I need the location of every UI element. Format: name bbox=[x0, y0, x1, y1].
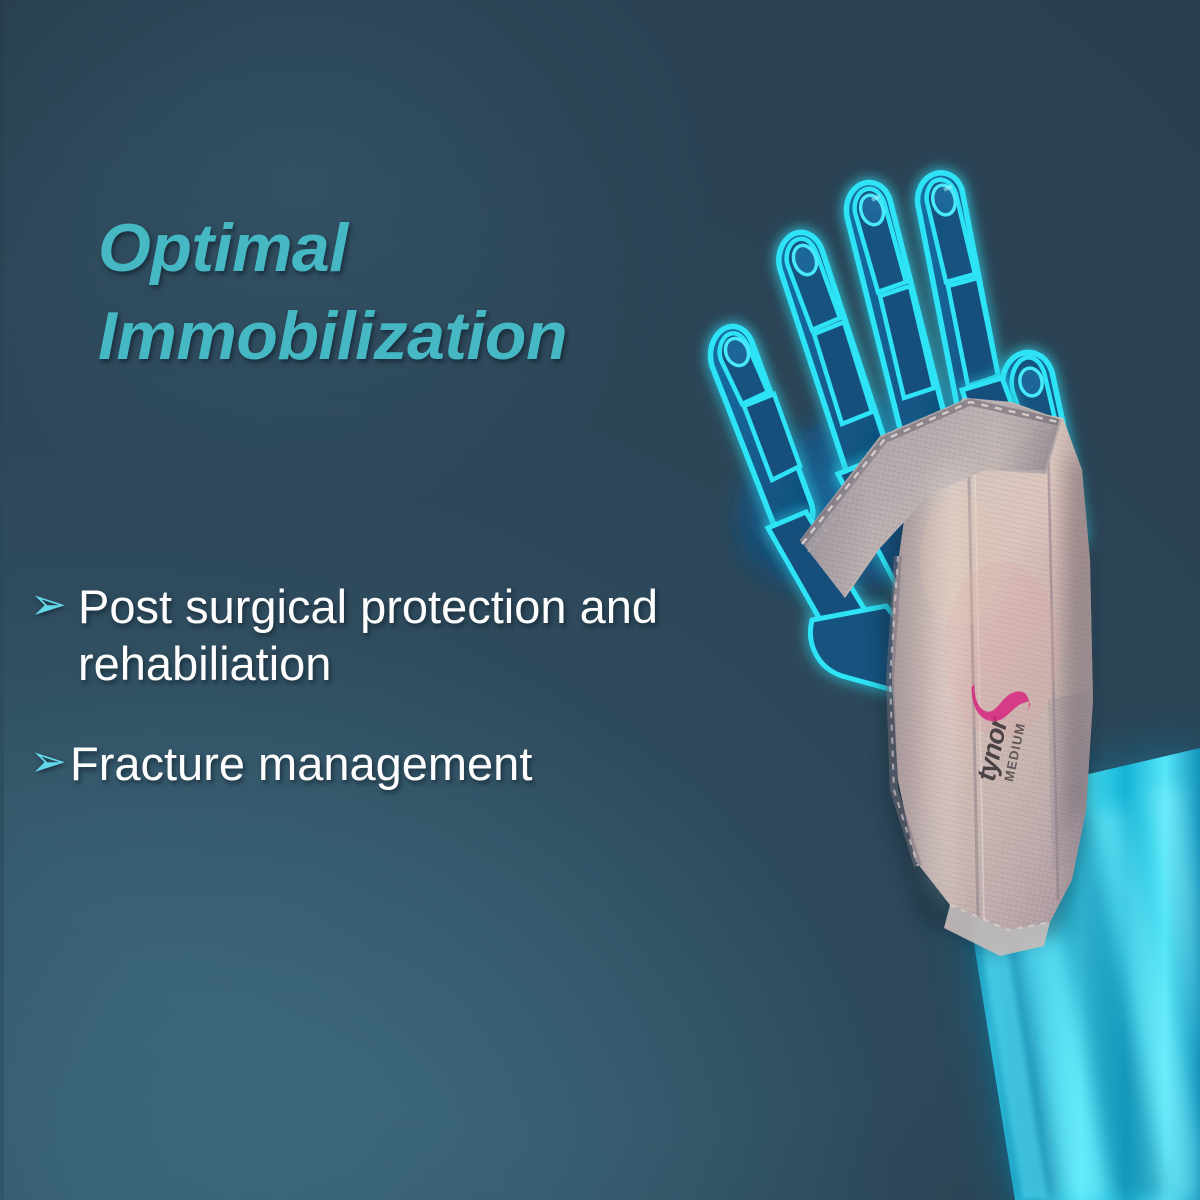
feature-list: ➢ Post surgical protection and rehabilia… bbox=[30, 578, 820, 792]
page-title: Optimal Immobilization bbox=[98, 204, 738, 381]
arrow-bullet-icon: ➢ bbox=[30, 739, 70, 785]
marketing-banner: Optimal Immobilization ➢ Post surgical p… bbox=[0, 0, 1200, 1200]
list-item: ➢ Post surgical protection and rehabilia… bbox=[30, 578, 820, 693]
list-item: ➢ Fracture management bbox=[30, 735, 820, 792]
list-item-label: Fracture management bbox=[70, 735, 820, 792]
arrow-bullet-icon: ➢ bbox=[30, 582, 78, 628]
list-item-label: Post surgical protection and rehabiliati… bbox=[78, 578, 820, 693]
